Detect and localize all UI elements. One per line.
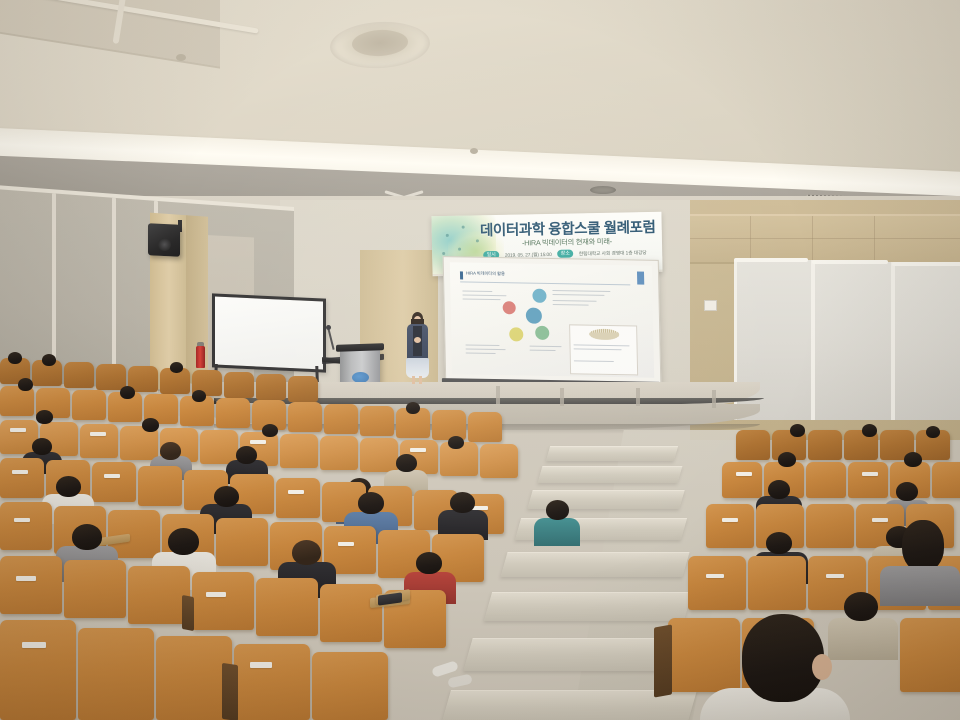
audience-head [768,480,790,499]
audience-head [236,446,257,464]
slide-image-graphic [589,329,619,341]
audience-head [896,482,918,501]
audience-head [292,540,321,565]
audience-head [396,454,417,472]
seat-number-tag [706,574,724,578]
audience-head [926,426,940,438]
seat[interactable] [200,430,238,464]
audience-head [170,362,183,373]
slide-circle-yellow [509,327,523,341]
seat[interactable] [0,620,76,720]
audience-head [766,532,792,554]
ceiling-recessed-panel [0,0,220,69]
audience-head [32,438,52,455]
presenter-leg-right [419,376,422,384]
seat-number-tag [206,592,226,597]
seat[interactable] [706,504,754,548]
seat-number-tag [250,662,272,668]
audience-head [192,390,206,402]
audience-head [406,402,420,414]
seat[interactable] [932,462,960,498]
seat[interactable] [360,406,394,436]
seat-number-tag [16,576,36,581]
foreground-head [742,614,824,702]
seat[interactable] [848,462,888,498]
seat[interactable] [808,430,842,460]
seat[interactable] [432,410,466,440]
seat[interactable] [722,462,762,498]
seat[interactable] [312,652,388,720]
seat[interactable] [288,402,322,432]
audience-shoulders [880,566,960,606]
seat-number-tag [736,472,752,476]
banner-place-text: 한림대학교 사회 경영대 1층 대강당 [579,249,647,257]
audience-head [120,386,135,399]
screen-support-leg [712,390,716,408]
audience-head [142,418,159,432]
seat[interactable] [216,518,268,566]
seat[interactable] [276,478,320,518]
audience-head [448,436,464,449]
audience-head [214,486,239,507]
audience-head [36,410,53,424]
seat[interactable] [806,462,846,498]
seat[interactable] [0,386,34,416]
speaker-cone-icon [158,238,171,251]
window-blind-2[interactable] [812,262,894,420]
audience-head [168,528,199,555]
seat-number-tag [90,432,106,436]
window-blind-3[interactable] [892,264,960,420]
presenter [404,312,430,384]
whiteboard [212,293,326,372]
seat[interactable] [64,560,126,618]
audience-head [790,424,805,437]
ceiling-vent [590,186,616,194]
seat[interactable] [0,458,44,498]
screen-support-leg [496,386,500,404]
wall-socket [704,300,717,311]
seat-number-tag [14,518,30,522]
seat-number-tag [872,518,888,522]
slide-title: HIRA 빅데이터의 활용 [466,271,505,278]
slide-divider [460,281,630,285]
audience-shoulders [828,618,898,660]
seat[interactable] [156,636,232,720]
seat[interactable] [320,584,382,642]
audience-head [450,492,475,513]
blind-headrail-1 [734,258,808,262]
seat[interactable] [224,372,254,398]
presenter-skirt [406,358,429,378]
seat[interactable] [806,504,854,548]
projection-screen: HIRA 빅데이터의 활용 [443,256,662,386]
seat-number-tag [10,428,26,432]
sprinkler-icon [176,54,186,61]
seat[interactable] [216,398,250,428]
audience-shoulders [534,518,580,546]
shoe [431,660,459,678]
slide-title-accent [460,271,463,279]
audience-head [778,452,796,467]
seat-number-tag [862,472,878,476]
right-wall-header-band [690,214,960,264]
seat-number-tag [250,440,266,444]
seat[interactable] [256,374,286,400]
blind-headrail-3 [892,262,960,266]
seat[interactable] [72,390,106,420]
seat-side-panel [654,624,672,697]
seat[interactable] [280,434,318,468]
shoe [447,674,473,689]
seat-number-tag [722,518,738,522]
seat[interactable] [468,412,502,442]
audience-head [72,524,102,550]
presenter-leg-left [412,376,415,384]
aisle-step [538,466,683,483]
seat[interactable] [78,628,154,720]
audience-head [56,476,81,497]
seat[interactable] [324,404,358,434]
seat-number-tag [22,642,46,648]
audience-head [844,592,878,621]
seat-number-tag [826,574,844,578]
seat[interactable] [748,556,806,610]
audience-head [160,442,181,460]
banner-place-badge: 장소 [558,250,573,258]
seat[interactable] [64,362,94,388]
slide-circle-blue [532,289,546,303]
sprinkler-icon [470,148,478,154]
seat[interactable] [288,376,318,402]
presenter-hands [414,337,421,343]
foreground-ear [812,654,832,680]
blind-headrail-2 [812,260,888,264]
seat-number-tag [288,490,304,494]
seat[interactable] [360,438,398,472]
seat-number-tag [12,470,28,474]
seat[interactable] [900,618,960,692]
lecture-hall-photo: 데이터과학 융합스쿨 월례포럼 -HIRA 빅데이터의 현재와 미래- 일시 2… [0,0,960,720]
seat[interactable] [256,578,318,636]
seat[interactable] [92,462,136,502]
aisle-step [484,592,692,621]
seat[interactable] [688,556,746,610]
audience-head [358,492,384,514]
seat[interactable] [128,566,190,624]
microphone-icon [326,325,331,330]
audience-head [862,424,877,437]
audience-head [904,452,922,467]
seat[interactable] [736,430,770,460]
aisle-step [546,446,678,461]
seat-side-panel [222,663,238,720]
seat[interactable] [480,444,518,478]
seat[interactable] [0,502,52,550]
screen-support-leg [560,388,564,406]
seat[interactable] [96,364,126,390]
aisle-step [500,552,689,577]
audience-head [902,520,944,572]
audience-head [18,378,33,391]
audience-head [416,552,442,574]
seat[interactable] [192,572,254,630]
seat[interactable] [138,466,182,506]
audience-head [8,352,22,364]
screen-support-leg [636,388,640,406]
audience-head [42,354,56,366]
seat-side-panel [182,595,194,631]
audience-head [262,424,278,437]
audience-head [546,500,569,520]
seat-number-tag [338,542,354,546]
seat-number-tag [410,448,426,452]
seat[interactable] [668,618,740,692]
fire-extinguisher [196,346,205,368]
seat[interactable] [320,436,358,470]
seat[interactable] [234,644,310,720]
seat[interactable] [0,556,62,614]
slide-corner-tab [637,272,644,285]
slide-circle-red [503,301,516,314]
slide-circle-green [535,326,549,340]
slide-circle-teal [526,308,542,324]
seat-number-tag [104,474,120,478]
seat[interactable] [80,424,118,458]
projection-screen-surface: HIRA 빅데이터의 활용 [450,262,654,378]
